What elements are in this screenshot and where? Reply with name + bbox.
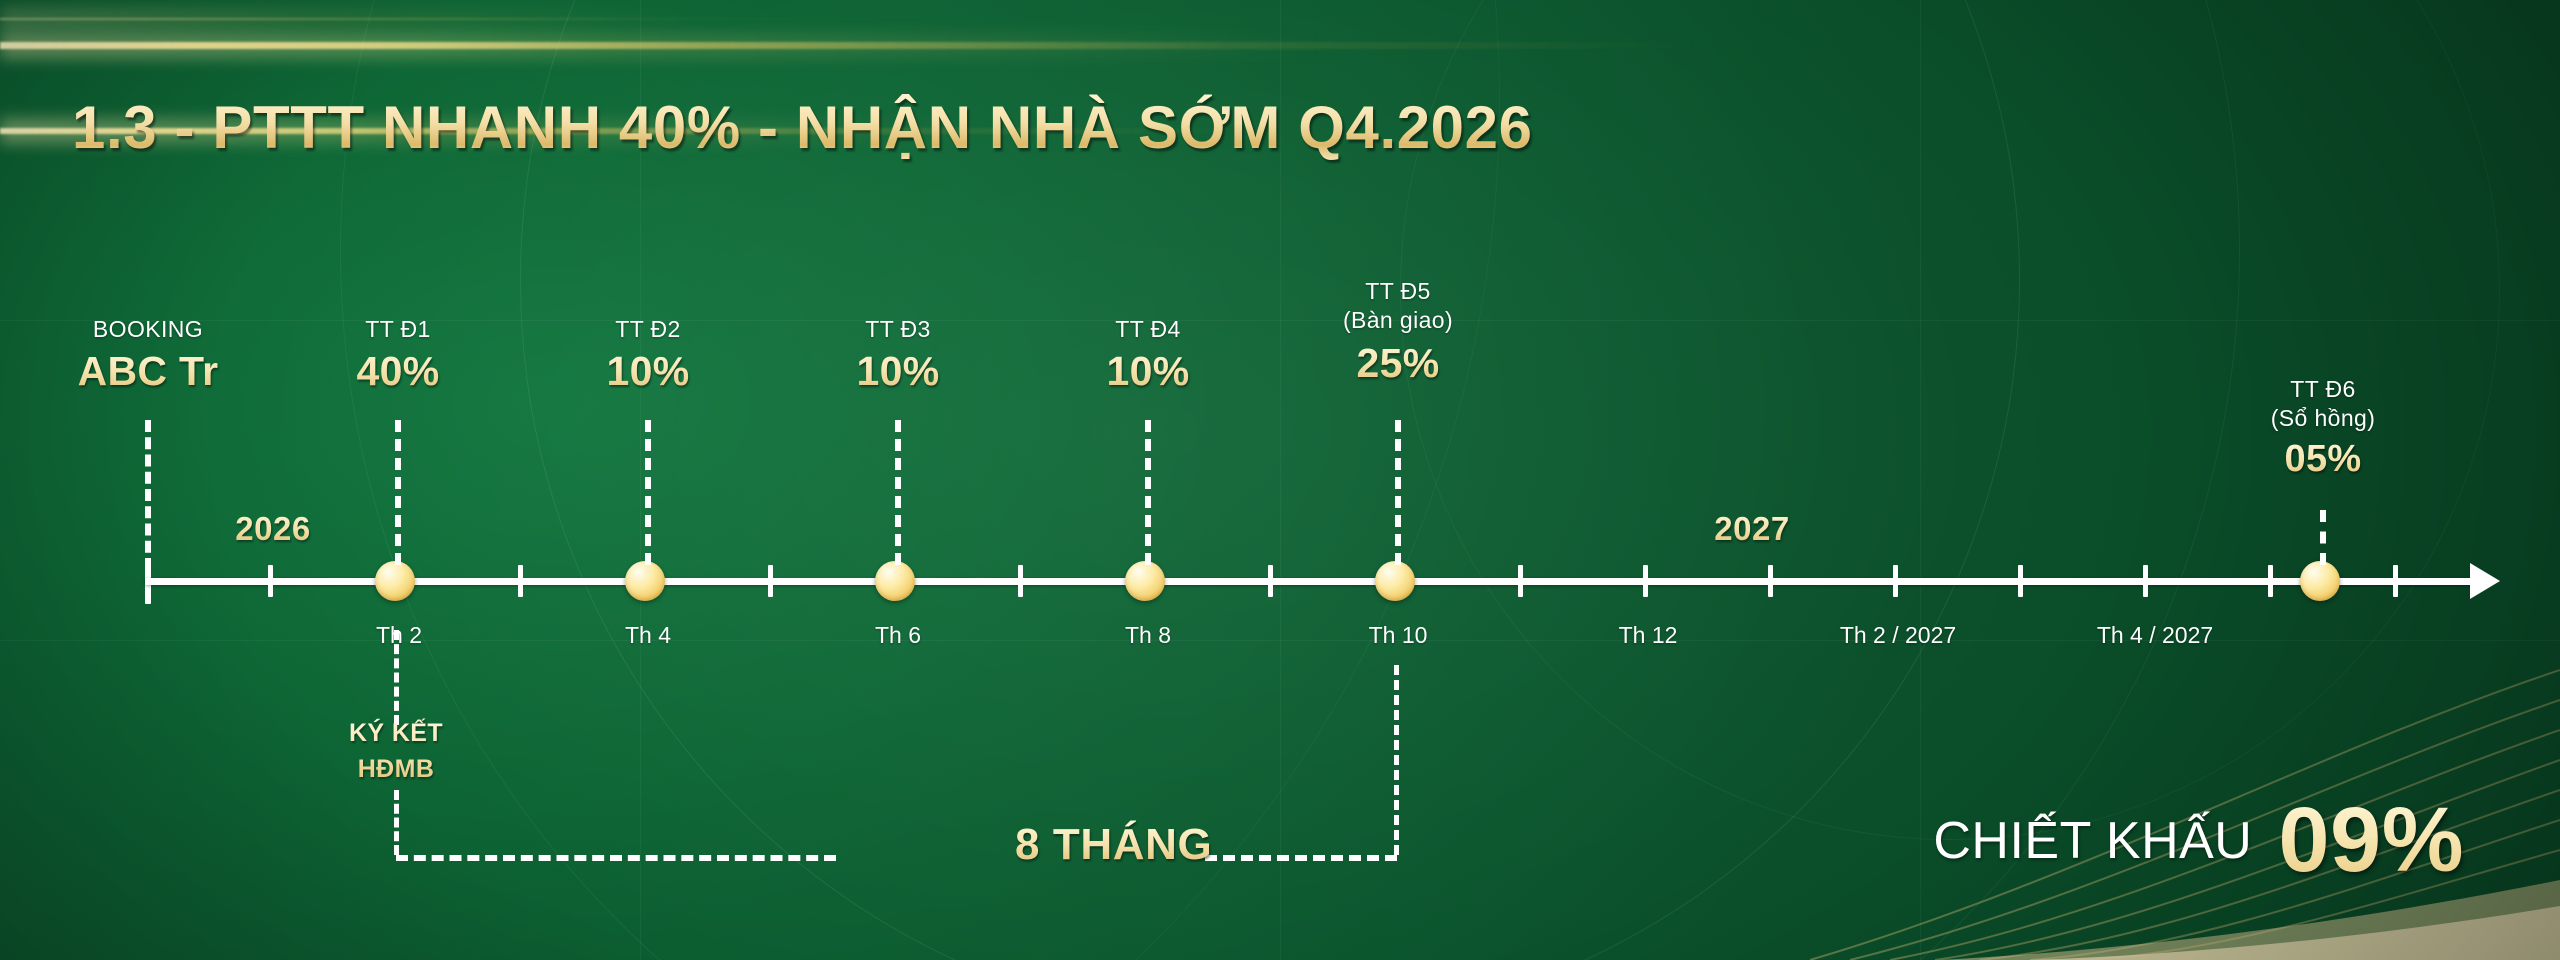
milestone-caption: TT Đ6 [2271, 375, 2376, 404]
axis-tick [2018, 565, 2023, 597]
milestone-dot-tt6[interactable] [2300, 561, 2340, 601]
duration-label: 8 THÁNG [1015, 820, 1212, 870]
milestone-dot-tt1[interactable] [375, 561, 415, 601]
milestone-tt4[interactable]: TT Đ4 10% [1107, 315, 1190, 395]
discount-label: CHIẾT KHẤU [1933, 811, 2252, 871]
axis-tick-label: Th 2 / 2027 [1840, 622, 1956, 649]
bracket-left-vertical-lower [394, 790, 399, 855]
connector-tt3 [895, 420, 901, 565]
milestone-subcaption: (Bàn giao) [1343, 306, 1453, 335]
axis-tick-label: Th 10 [1369, 622, 1428, 649]
axis-tick [2393, 565, 2398, 597]
milestone-value: 10% [1107, 348, 1190, 395]
milestone-booking[interactable]: BOOKING ABC Tr [78, 315, 219, 395]
milestone-tt2[interactable]: TT Đ2 10% [607, 315, 690, 395]
bracket-right-vertical [1394, 665, 1399, 855]
axis-tick [2143, 565, 2148, 597]
milestone-tt6[interactable]: TT Đ6 (Sổ hồng) 05% [2271, 375, 2376, 481]
discount-block: CHIẾT KHẤU 09% [1933, 788, 2464, 893]
milestone-tt3[interactable]: TT Đ3 10% [857, 315, 940, 395]
milestone-value: 10% [857, 348, 940, 395]
contract-signing-label: KÝ KẾT HĐMB [349, 715, 443, 788]
axis-tick-label: Th 4 / 2027 [2097, 622, 2213, 649]
discount-value: 09% [2278, 788, 2464, 893]
milestone-dot-tt2[interactable] [625, 561, 665, 601]
milestone-tt1[interactable]: TT Đ1 40% [357, 315, 440, 395]
milestone-subcaption: (Sổ hồng) [2271, 404, 2376, 433]
axis-tick [1768, 565, 1773, 597]
axis-tick [1268, 565, 1273, 597]
bracket-bottom-left [396, 855, 836, 861]
axis-tick [2268, 565, 2273, 597]
axis-tick-label: Th 6 [875, 622, 921, 649]
milestone-caption: TT Đ2 [607, 315, 690, 344]
year-label-2026: 2026 [235, 510, 310, 548]
year-label-2027: 2027 [1714, 510, 1789, 548]
milestone-value: 25% [1343, 340, 1453, 387]
milestone-caption: BOOKING [78, 315, 219, 344]
contract-signing-line2: HĐMB [349, 751, 443, 787]
axis-tick-label: Th 12 [1619, 622, 1678, 649]
milestone-value: 40% [357, 348, 440, 395]
milestone-caption: TT Đ1 [357, 315, 440, 344]
axis-tick [1518, 565, 1523, 597]
axis-tick-label: Th 4 [625, 622, 671, 649]
milestone-value: 10% [607, 348, 690, 395]
milestone-tt5[interactable]: TT Đ5 (Bàn giao) 25% [1343, 277, 1453, 387]
axis-tick [1018, 565, 1023, 597]
connector-tt1 [395, 420, 401, 565]
milestone-dot-tt3[interactable] [875, 561, 915, 601]
axis-tick [518, 565, 523, 597]
axis-line [145, 578, 2475, 585]
connector-tt4 [1145, 420, 1151, 565]
contract-signing-line1: KÝ KẾT [349, 715, 443, 751]
milestone-caption: TT Đ4 [1107, 315, 1190, 344]
axis-arrow-icon [2470, 563, 2500, 599]
bracket-bottom-right [1205, 855, 1397, 861]
axis-tick-label: Th 8 [1125, 622, 1171, 649]
connector-tt6 [2320, 510, 2326, 565]
axis-tick [1643, 565, 1648, 597]
axis-tick [268, 565, 273, 597]
axis-tick-label: Th 2 [376, 622, 422, 649]
milestone-caption: TT Đ5 [1343, 277, 1453, 306]
connector-tt2 [645, 420, 651, 565]
connector-booking [145, 420, 151, 570]
milestone-dot-tt4[interactable] [1125, 561, 1165, 601]
milestone-value: ABC Tr [78, 348, 219, 395]
milestone-caption: TT Đ3 [857, 315, 940, 344]
connector-tt5 [1395, 420, 1401, 565]
axis-tick [768, 565, 773, 597]
milestone-value: 05% [2271, 438, 2376, 481]
milestone-dot-tt5[interactable] [1375, 561, 1415, 601]
axis-tick [1893, 565, 1898, 597]
bracket-left-vertical [394, 630, 399, 725]
